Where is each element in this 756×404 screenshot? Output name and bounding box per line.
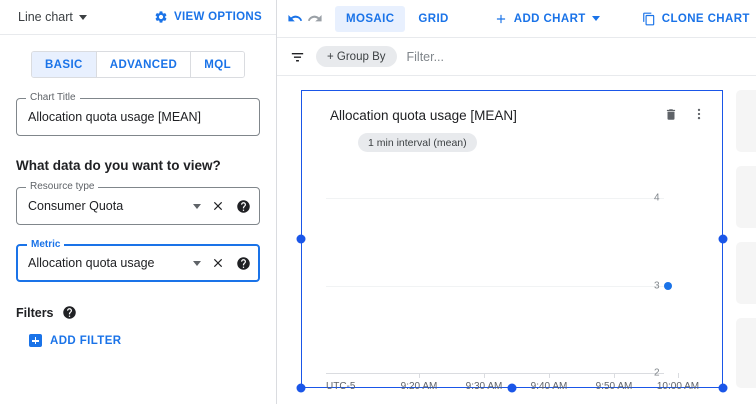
tab-advanced[interactable]: ADVANCED [97, 52, 192, 77]
config-fields: Chart Title Allocation quota usage [MEAN… [0, 98, 276, 136]
gridline-y3 [326, 286, 664, 287]
tab-mql[interactable]: MQL [191, 52, 244, 77]
interval-badge: 1 min interval (mean) [358, 133, 477, 152]
chart-title-field[interactable]: Chart Title Allocation quota usage [MEAN… [16, 98, 260, 136]
chevron-down-icon [79, 15, 87, 20]
chevron-down-icon[interactable] [193, 204, 201, 209]
y-tick-2: 2 [654, 368, 684, 379]
dashboard-canvas: Allocation quota usage [MEAN] 1 min inte… [277, 76, 756, 404]
x-tick-label-4: 9:50 AM [596, 381, 633, 392]
x-tick-label-2: 9:30 AM [466, 381, 503, 392]
resource-type-field[interactable]: Resource type Consumer Quota [16, 187, 260, 225]
chart-plot-area: 4 3 2 UTC-5 9:20 AM [302, 169, 722, 387]
metric-field[interactable]: Metric Allocation quota usage [16, 244, 260, 282]
trash-icon[interactable] [664, 107, 678, 122]
metrics-chart-editor: Line chart VIEW OPTIONS BASIC ADVANCED M [0, 0, 756, 404]
filter-list-icon[interactable] [289, 48, 306, 65]
layout-mode-grid[interactable]: GRID [407, 6, 459, 32]
data-section-heading: What data do you want to view? [16, 158, 260, 173]
config-panel-toolbar: Line chart VIEW OPTIONS [0, 0, 276, 35]
group-by-label: + Group By [327, 51, 386, 63]
resize-handle-bottom[interactable] [508, 384, 517, 393]
resource-type-label: Resource type [26, 181, 98, 193]
chart-type-dropdown[interactable]: Line chart [16, 7, 89, 27]
view-options-button[interactable]: VIEW OPTIONS [148, 6, 268, 28]
resize-handle-left[interactable] [297, 235, 306, 244]
resource-type-value[interactable]: Consumer Quota [28, 199, 189, 213]
kebab-menu-icon[interactable] [692, 106, 706, 122]
tab-basic-label: BASIC [45, 59, 83, 71]
x-tick-label-3: 9:40 AM [531, 381, 568, 392]
chevron-down-icon [592, 16, 600, 21]
mosaic-label: MOSAIC [346, 13, 394, 25]
group-by-chip[interactable]: + Group By [316, 46, 397, 67]
metric-value[interactable]: Allocation quota usage [28, 256, 189, 270]
resize-handle-bottom-right[interactable] [719, 384, 728, 393]
tab-mql-label: MQL [204, 59, 231, 71]
clone-chart-label: CLONE CHART [662, 13, 750, 25]
plus-box-icon [29, 334, 42, 347]
chart-config-panel: Line chart VIEW OPTIONS BASIC ADVANCED M [0, 0, 277, 404]
add-chart-button[interactable]: ADD CHART [486, 5, 608, 33]
help-icon[interactable] [236, 199, 251, 214]
timezone-label: UTC-5 [326, 381, 355, 392]
undo-button[interactable] [287, 5, 304, 33]
tab-advanced-label: ADVANCED [110, 59, 178, 71]
dashboard-panel: MOSAIC GRID ADD CHART CLONE CHART [277, 0, 756, 404]
placeholder-card [736, 242, 756, 304]
help-icon[interactable] [62, 305, 77, 320]
layout-mode-mosaic[interactable]: MOSAIC [335, 6, 405, 32]
chart-title-input[interactable]: Allocation quota usage [MEAN] [28, 110, 251, 124]
resize-handle-right[interactable] [719, 235, 728, 244]
add-filter-label: ADD FILTER [50, 335, 122, 347]
clear-icon[interactable] [211, 256, 225, 270]
redo-icon [306, 10, 323, 27]
filters-label: Filters [16, 306, 54, 320]
chart-widget-actions [664, 106, 706, 122]
metric-selection-fields: Resource type Consumer Quota Metric Allo… [0, 187, 276, 282]
chart-widget[interactable]: Allocation quota usage [MEAN] 1 min inte… [301, 90, 723, 388]
filter-input[interactable]: Filter... [407, 50, 445, 64]
dashboard-toolbar: MOSAIC GRID ADD CHART CLONE CHART [277, 0, 756, 38]
chart-type-label: Line chart [18, 10, 73, 24]
x-tick-mark [549, 373, 550, 378]
x-tick-mark [678, 373, 679, 378]
chart-widget-header: Allocation quota usage [MEAN] 1 min inte… [302, 91, 722, 152]
filters-heading-row: Filters [16, 305, 260, 320]
gridline-y4 [326, 198, 664, 199]
chart-title-label: Chart Title [26, 92, 80, 104]
config-tabs: BASIC ADVANCED MQL [31, 51, 245, 78]
clear-icon[interactable] [211, 199, 225, 213]
y-tick-4: 4 [654, 193, 684, 204]
placeholder-card [736, 90, 756, 152]
view-options-label: VIEW OPTIONS [174, 11, 262, 23]
resize-handle-bottom-left[interactable] [297, 384, 306, 393]
help-icon[interactable] [236, 256, 251, 271]
x-tick-label-5: 10:00 AM [657, 381, 699, 392]
metric-label: Metric [27, 239, 64, 251]
config-tabs-row: BASIC ADVANCED MQL [0, 35, 276, 78]
x-tick-mark [419, 373, 420, 378]
chevron-down-icon[interactable] [193, 261, 201, 266]
dashboard-filter-bar: + Group By Filter... [277, 38, 756, 76]
redo-button[interactable] [306, 5, 323, 33]
add-filter-button[interactable]: ADD FILTER [29, 334, 260, 347]
add-chart-label: ADD CHART [514, 13, 586, 25]
plus-icon [494, 12, 508, 26]
placeholder-card [736, 318, 756, 388]
placeholder-card [736, 166, 756, 228]
x-tick-label-1: 9:20 AM [401, 381, 438, 392]
grid-label: GRID [418, 13, 448, 25]
x-tick-mark [614, 373, 615, 378]
tab-basic[interactable]: BASIC [32, 52, 97, 77]
x-tick-mark [484, 373, 485, 378]
undo-icon [287, 10, 304, 27]
copy-icon [642, 12, 656, 26]
clone-chart-button[interactable]: CLONE CHART [634, 5, 756, 33]
chart-widget-title: Allocation quota usage [MEAN] [330, 108, 708, 124]
gear-icon [154, 10, 168, 24]
data-point[interactable] [664, 282, 672, 290]
